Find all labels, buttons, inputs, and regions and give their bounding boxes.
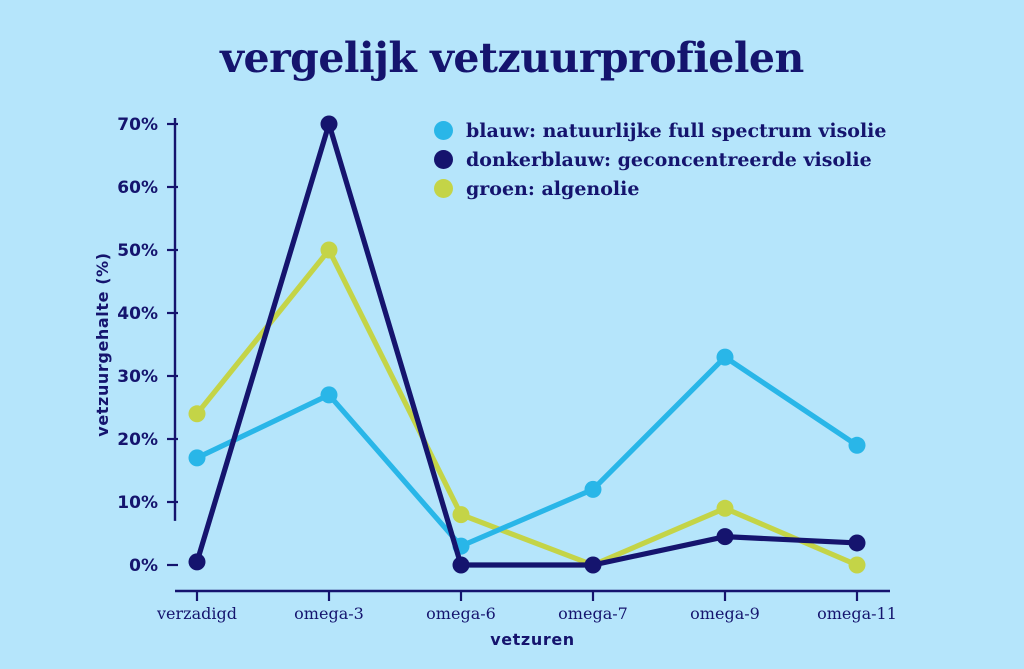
data-point-blauw-omega-9 bbox=[717, 349, 734, 366]
data-point-donkerblauw-omega-11 bbox=[849, 534, 866, 551]
data-point-groen-omega-6 bbox=[453, 506, 470, 523]
data-point-blauw-omega-11 bbox=[849, 437, 866, 454]
x-tick-label: omega-9 bbox=[690, 604, 760, 623]
x-tick-label: omega-7 bbox=[558, 604, 628, 623]
y-tick-label: 0% bbox=[129, 556, 158, 576]
data-point-groen-omega-9 bbox=[717, 500, 734, 517]
x-tick-label: omega-11 bbox=[817, 604, 897, 623]
line-plot: 0%10%20%30%40%50%60%70%vetzuurgehalte (%… bbox=[0, 0, 1024, 669]
y-tick-label: 30% bbox=[117, 367, 158, 387]
series-groen bbox=[189, 242, 866, 574]
y-tick-label: 40% bbox=[117, 304, 158, 324]
chart-container: vergelijk vetzuurprofielen blauw: natuur… bbox=[0, 0, 1024, 669]
x-tick-label: verzadigd bbox=[156, 604, 237, 623]
data-point-blauw-omega-3 bbox=[321, 386, 338, 403]
data-point-donkerblauw-omega-3 bbox=[321, 116, 338, 133]
data-point-groen-omega-11 bbox=[849, 557, 866, 574]
data-point-groen-omega-3 bbox=[321, 242, 338, 259]
data-point-donkerblauw-omega-6 bbox=[453, 557, 470, 574]
data-point-blauw-verzadigd bbox=[189, 449, 206, 466]
y-axis-label: vetzuurgehalte (%) bbox=[93, 252, 112, 436]
x-tick-label: omega-3 bbox=[294, 604, 364, 623]
series-line-blauw bbox=[197, 357, 857, 546]
x-tick-label: omega-6 bbox=[426, 604, 496, 623]
series-donkerblauw bbox=[189, 116, 866, 574]
y-tick-label: 20% bbox=[117, 430, 158, 450]
data-point-groen-verzadigd bbox=[189, 405, 206, 422]
y-tick-label: 10% bbox=[117, 493, 158, 513]
data-point-blauw-omega-7 bbox=[585, 481, 602, 498]
y-tick-label: 50% bbox=[117, 241, 158, 261]
series-line-donkerblauw bbox=[197, 124, 857, 565]
x-axis-label: vetzuren bbox=[490, 630, 575, 649]
y-tick-label: 60% bbox=[117, 178, 158, 198]
data-point-donkerblauw-omega-9 bbox=[717, 528, 734, 545]
data-point-donkerblauw-omega-7 bbox=[585, 557, 602, 574]
y-tick-label: 70% bbox=[117, 115, 158, 135]
data-point-donkerblauw-verzadigd bbox=[189, 553, 206, 570]
